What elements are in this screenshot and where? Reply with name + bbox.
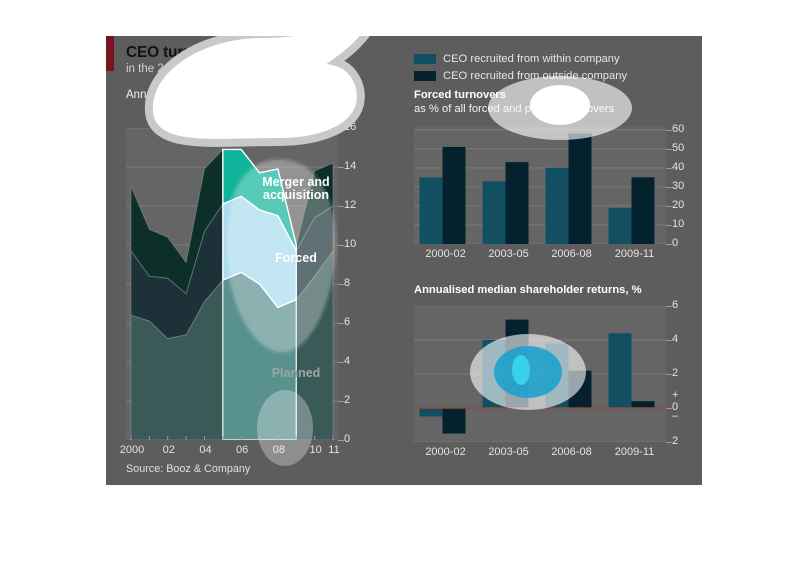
tick-label: 0: [672, 237, 678, 249]
tick-label: 04: [192, 444, 218, 456]
tick-label: 2000: [119, 444, 145, 456]
legend-item-outside: CEO recruited from outside company: [414, 68, 627, 83]
y-tick: [338, 245, 344, 246]
bar: [443, 408, 466, 434]
bar: [632, 177, 655, 244]
area-chart-svg: [126, 128, 338, 440]
x-category-label: 2006-08: [540, 248, 603, 260]
tick-label: 02: [156, 444, 182, 456]
y-tick: [666, 442, 672, 443]
area-chart: Merger and acquisition Forced Planned: [126, 128, 338, 440]
bar: [483, 340, 506, 408]
tick-label: 14: [344, 160, 356, 172]
bar: [506, 320, 529, 408]
x-category-label: 2000-02: [414, 248, 477, 260]
tick-label: 6: [344, 316, 350, 328]
shareholder-returns-chart: [414, 306, 666, 442]
tick-label: 10: [344, 238, 356, 250]
tick-label: 40: [672, 161, 684, 173]
bar: [546, 343, 569, 408]
tick-label: 08: [266, 444, 292, 456]
tick-label: 8: [344, 277, 350, 289]
x-category-label: 2009-11: [603, 248, 666, 260]
tick-label: 2: [672, 435, 678, 447]
tick-label: 30: [672, 180, 684, 192]
y-tick: [666, 130, 672, 131]
y-tick: [338, 167, 344, 168]
y-tick: [666, 225, 672, 226]
tick-label: 11: [321, 444, 347, 456]
y-tick: [666, 149, 672, 150]
forced-turnovers-svg: [414, 126, 666, 244]
shareholder-returns-caption: Annualised median shareholder returns, %: [414, 283, 674, 297]
tick-label: 4: [344, 355, 350, 367]
x-category-label: 2000-02: [414, 446, 477, 458]
bar: [420, 408, 443, 417]
y-tick: [666, 340, 672, 341]
tick-label: 2: [672, 367, 678, 379]
forced-turnovers-title: Forced turnovers: [414, 89, 506, 101]
tick-label: 6: [672, 299, 678, 311]
legend-swatch-within: [414, 54, 436, 64]
bar: [420, 177, 443, 244]
bar: [443, 147, 466, 244]
tick-label: 10: [672, 218, 684, 230]
y-tick: [338, 284, 344, 285]
x-category-label: 2003-05: [477, 446, 540, 458]
legend-label-within: CEO recruited from within company: [443, 53, 620, 65]
bar: [609, 208, 632, 244]
y-tick: [338, 440, 344, 441]
infographic-canvas: CEO turnover and performance in the 2,50…: [0, 0, 810, 578]
x-category-label: 2006-08: [540, 446, 603, 458]
bar: [483, 181, 506, 244]
shareholder-returns-title: Annualised median shareholder returns, %: [414, 284, 642, 296]
legend-label-outside: CEO recruited from outside company: [443, 70, 627, 82]
tick-label: 12: [344, 199, 356, 211]
tick-label: 50: [672, 142, 684, 154]
accent-bar: [106, 36, 114, 71]
legend-swatch-outside: [414, 71, 436, 81]
y-tick: [338, 206, 344, 207]
x-category-label: 2003-05: [477, 248, 540, 260]
page-title: CEO turnover and performance: [126, 44, 396, 62]
y-tick: [666, 187, 672, 188]
bar: [569, 134, 592, 244]
source-note: Source: Booz & Company: [126, 463, 250, 475]
legend: CEO recruited from within company CEO re…: [414, 51, 627, 85]
y-tick: [666, 374, 672, 375]
page-subtitle: in the 2,500 biggest global public compa…: [126, 63, 396, 77]
tick-label: 06: [229, 444, 255, 456]
bar: [609, 333, 632, 408]
y-tick: [666, 168, 672, 169]
legend-item-within: CEO recruited from within company: [414, 51, 627, 66]
bar: [569, 371, 592, 408]
tick-label: 2: [344, 394, 350, 406]
y-tick: [338, 401, 344, 402]
y-tick: [338, 362, 344, 363]
bar: [632, 401, 655, 408]
area-chart-caption: Annual turnover by cause, %: [126, 89, 396, 103]
y-tick: [666, 244, 672, 245]
tick-label: 16: [344, 121, 356, 133]
forced-turnovers-caption: Forced turnovers as % of all forced and …: [414, 88, 664, 116]
forced-turnovers-chart: [414, 126, 666, 244]
bar: [546, 168, 569, 244]
y-tick: [338, 128, 344, 129]
minus-sign: –: [672, 410, 678, 422]
header: CEO turnover and performance in the 2,50…: [126, 44, 396, 102]
x-category-label: 2009-11: [603, 446, 666, 458]
tick-label: 4: [672, 333, 678, 345]
bar: [506, 162, 529, 244]
y-tick: [666, 206, 672, 207]
y-tick: [338, 323, 344, 324]
y-tick: [666, 408, 672, 409]
tick-label: 20: [672, 199, 684, 211]
y-tick: [666, 306, 672, 307]
shareholder-returns-svg: [414, 306, 666, 442]
plus-sign: +: [672, 389, 678, 401]
forced-turnovers-subtitle: as % of all forced and planned turnovers: [414, 103, 614, 115]
tick-label: 60: [672, 123, 684, 135]
